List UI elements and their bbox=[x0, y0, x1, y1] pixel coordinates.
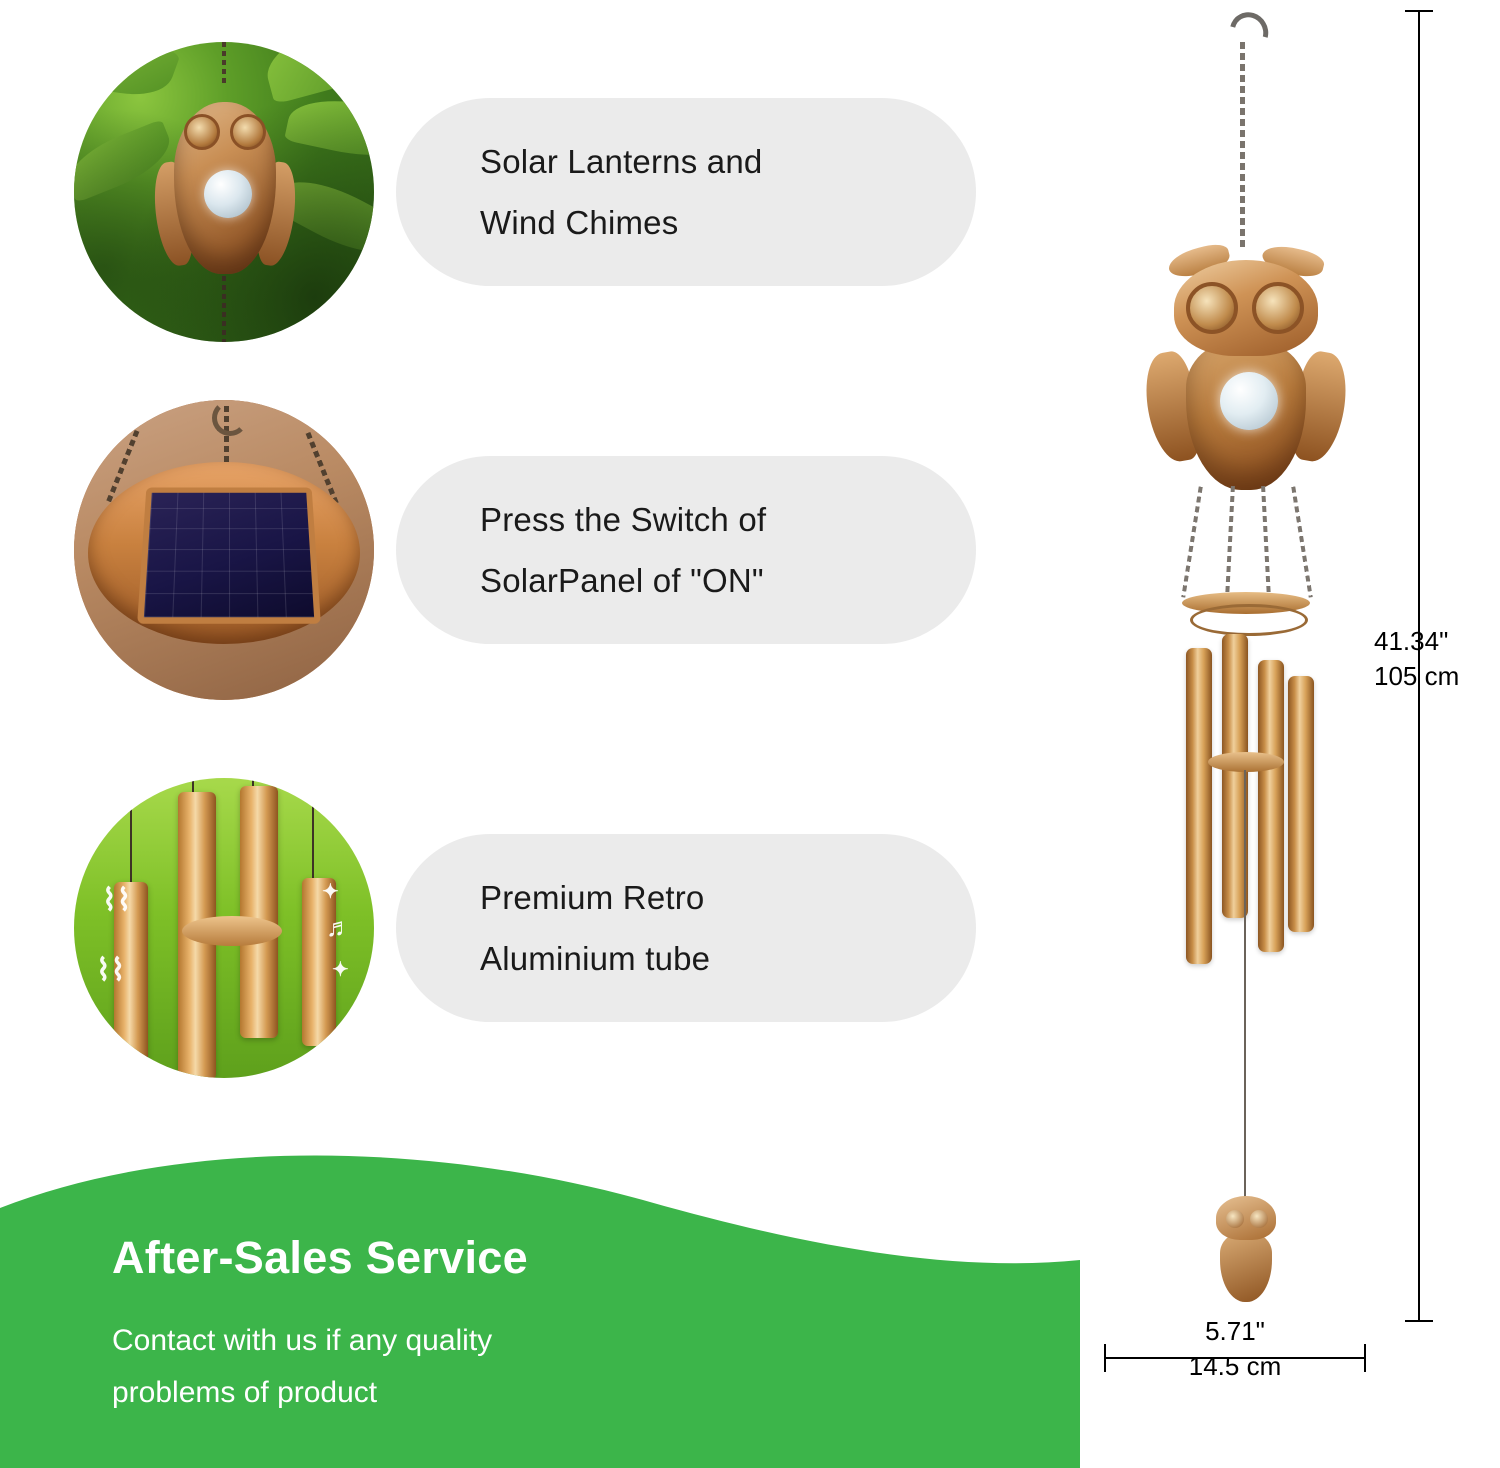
feature-2-line-2: SolarPanel of "ON" bbox=[480, 550, 976, 611]
solar-panel bbox=[137, 487, 321, 623]
feature-label-pill-2: Press the Switch of SolarPanel of "ON" bbox=[396, 456, 976, 644]
chain-strand bbox=[1261, 486, 1271, 598]
chime-ring bbox=[1190, 604, 1308, 636]
after-sales-service-footer: After-Sales Service Contact with us if a… bbox=[0, 1130, 1080, 1468]
chime-tube bbox=[1288, 676, 1314, 932]
crackle-glass-globe bbox=[1220, 372, 1278, 430]
chain-strand bbox=[1291, 486, 1312, 597]
owl-wind-sail bbox=[1208, 1196, 1284, 1308]
sparkle-icon: ✦ bbox=[322, 882, 339, 902]
feature-3-line-1: Premium Retro bbox=[480, 867, 976, 928]
solar-panel-top-photo bbox=[74, 400, 374, 700]
chain-strand bbox=[1225, 486, 1235, 598]
hanging-chain bbox=[1240, 42, 1245, 250]
owl-sail-eye-right bbox=[1250, 1210, 1268, 1228]
wind-icon: ⌇⌇ bbox=[96, 956, 125, 986]
owl-lantern-in-foliage-photo bbox=[74, 42, 374, 342]
width-inches: 5.71" bbox=[1104, 1314, 1366, 1349]
feature-1-line-2: Wind Chimes bbox=[480, 192, 976, 253]
chime-tube bbox=[1186, 648, 1212, 964]
owl-eye-left bbox=[1186, 282, 1238, 334]
chain-strand bbox=[1181, 486, 1202, 597]
feature-row-aluminium-tube: ⌇⌇ ⌇⌇ ♬ ✦ ✦ Premium Retro Aluminium tube bbox=[74, 778, 954, 1078]
aluminium-tubes-on-grass-photo: ⌇⌇ ⌇⌇ ♬ ✦ ✦ bbox=[74, 778, 374, 1078]
owl-eye-left bbox=[184, 114, 220, 150]
feature-row-solar-lanterns: Solar Lanterns and Wind Chimes bbox=[74, 42, 954, 342]
feature-label-pill-1: Solar Lanterns and Wind Chimes bbox=[396, 98, 976, 286]
height-inches: 41.34" bbox=[1374, 624, 1459, 659]
footer-title: After-Sales Service bbox=[112, 1232, 528, 1284]
feature-1-line-1: Solar Lanterns and bbox=[480, 131, 976, 192]
feature-label-pill-3: Premium Retro Aluminium tube bbox=[396, 834, 976, 1022]
chime-clapper bbox=[1208, 752, 1284, 772]
owl-sail-body bbox=[1220, 1232, 1272, 1302]
crackle-glass-globe bbox=[204, 170, 252, 218]
width-cm: 14.5 cm bbox=[1104, 1349, 1366, 1384]
feature-row-press-switch: Press the Switch of SolarPanel of "ON" bbox=[74, 400, 954, 700]
wind-sail-disc bbox=[182, 916, 282, 946]
footer-line-2: problems of product bbox=[112, 1376, 377, 1410]
owl-solar-lantern bbox=[1142, 244, 1350, 492]
feature-3-line-2: Aluminium tube bbox=[480, 928, 976, 989]
width-dimension-label: 5.71" 14.5 cm bbox=[1104, 1314, 1366, 1384]
music-note-icon: ♬ bbox=[326, 914, 352, 940]
chime-tube bbox=[1258, 660, 1284, 952]
footer-line-1: Contact with us if any quality bbox=[112, 1324, 492, 1358]
lower-chain bbox=[222, 276, 226, 342]
owl-eye-right bbox=[230, 114, 266, 150]
wind-sail-cord bbox=[1244, 770, 1246, 1204]
sparkle-icon: ✦ bbox=[332, 960, 349, 980]
product-photo bbox=[1090, 0, 1420, 1360]
footer-wave-shape bbox=[0, 1130, 1080, 1468]
height-dimension-label: 41.34" 105 cm bbox=[1374, 624, 1459, 694]
hook-icon bbox=[212, 400, 248, 436]
feature-2-line-1: Press the Switch of bbox=[480, 489, 976, 550]
height-cm: 105 cm bbox=[1374, 659, 1459, 694]
owl-eye-right bbox=[1252, 282, 1304, 334]
tube-cord bbox=[130, 778, 132, 898]
owl-lantern bbox=[160, 78, 290, 288]
aluminium-tube bbox=[240, 786, 278, 1038]
chime-suspension-chains bbox=[1182, 486, 1310, 598]
wind-icon: ⌇⌇ bbox=[102, 886, 131, 916]
owl-sail-eye-left bbox=[1226, 1210, 1244, 1228]
hanging-hook-icon bbox=[1223, 5, 1276, 59]
aluminium-tube bbox=[302, 878, 336, 1046]
